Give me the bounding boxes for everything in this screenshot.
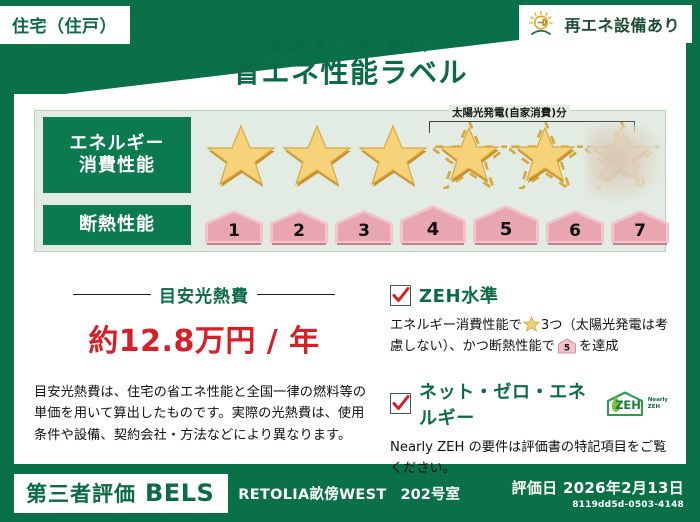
- evaluation-id: 8119dd5d-0503-4148: [512, 500, 684, 510]
- svg-text:7: 7: [634, 221, 646, 241]
- insulation-grade-2: 2: [268, 207, 330, 247]
- insulation-grade-3: 3: [333, 207, 395, 247]
- insulation-grade-6: 6: [544, 207, 606, 247]
- zeh-section: ZEH水準 エネルギー消費性能で3つ（太陽光発電は考慮しない）、かつ断熱性能で5…: [382, 280, 668, 456]
- renewable-equipment-label: 再エネ設備あり: [564, 12, 680, 36]
- zeh-netzero-title: ネット・ゼロ・エネルギー: [419, 378, 596, 430]
- insulation-grades-area: 1 2 3: [191, 199, 671, 251]
- inline-star-icon: [523, 316, 540, 332]
- utility-cost-heading: 目安光熱費: [34, 282, 374, 307]
- room-number: 202号室: [401, 483, 460, 504]
- insulation-performance-label: 断熱性能: [43, 205, 191, 245]
- insulation-grade-5: 5: [471, 203, 541, 247]
- energy-performance-label: エネルギー 消費性能: [43, 117, 191, 193]
- zeh-logo-sub-line1: Nearly: [648, 397, 668, 403]
- svg-text:3: 3: [358, 221, 370, 241]
- energy-stars-area: 太陽光発電(自家消費)分: [191, 111, 665, 199]
- svg-text:4: 4: [427, 219, 440, 240]
- building-name: RETOLIA畝傍WEST: [238, 483, 386, 504]
- zeh-netzero-title-row: ネット・ゼロ・エネルギー ZEH Nearly ZEH: [390, 378, 668, 430]
- bels-en-label: BELS: [145, 479, 214, 507]
- zeh-logo-sub-line2: ZEH: [648, 404, 660, 410]
- insulation-grade-scale: 1 2 3: [203, 200, 671, 250]
- lower-content: 目安光熱費 約12.8万円 / 年 目安光熱費は、住宅の省エネ性能と全国一律の燃…: [34, 280, 668, 456]
- solar-portion-label: 太陽光発電(自家消費)分: [449, 105, 570, 120]
- energy-label-line1: エネルギー: [70, 133, 165, 156]
- utility-cost-section: 目安光熱費 約12.8万円 / 年 目安光熱費は、住宅の省エネ性能と全国一律の燃…: [34, 280, 382, 456]
- performance-panel: エネルギー 消費性能 太陽光発電(自家消費)分: [34, 110, 666, 252]
- svg-text:2: 2: [293, 221, 305, 241]
- star-filled: [357, 121, 431, 189]
- renewable-equipment-badge: 再エネ設備あり: [519, 5, 692, 43]
- star-filled: [205, 121, 279, 189]
- energy-label-line2: 消費性能: [79, 155, 155, 178]
- label-body: エネルギー 消費性能 太陽光発電(自家消費)分: [14, 94, 686, 464]
- svg-text:5: 5: [500, 219, 513, 240]
- inline-insulation-badge-icon: 5: [557, 338, 577, 354]
- heading-rule-right: [257, 294, 335, 296]
- insulation-performance-row: 断熱性能 1 2: [35, 199, 665, 251]
- utility-cost-note: 目安光熱費は、住宅の省エネ性能と全国一律の燃料等の単価を用いて算出したものです。…: [34, 382, 374, 446]
- label-title: 建築物省エネ法に基づく 省エネ性能ラベル: [0, 40, 700, 87]
- zeh-standard-checkbox[interactable]: [390, 285, 411, 306]
- title-main: 省エネ性能ラベル: [0, 58, 700, 87]
- bels-jp-label: 第三者評価: [26, 478, 136, 508]
- evaluation-info: 評価日 2026年2月13日 8119dd5d-0503-4148: [512, 477, 684, 510]
- check-icon: [392, 286, 410, 305]
- energy-label-root: 住宅（住戸） 再エネ設備あり 建築物省エネ法に基づく 省エネ性能ラベル: [0, 0, 700, 522]
- svg-text:1: 1: [228, 221, 240, 241]
- zeh-standard-title-row: ZEH水準: [390, 282, 668, 308]
- zeh-standard-body-part3: を達成: [579, 339, 619, 354]
- zeh-logo: ZEH Nearly ZEH: [604, 390, 668, 418]
- check-icon: [392, 394, 410, 413]
- svg-text:6: 6: [569, 221, 581, 241]
- redacted-region: [587, 125, 661, 201]
- zeh-standard-body-part1: エネルギー消費性能で: [390, 318, 522, 333]
- svg-text:5: 5: [564, 344, 570, 354]
- zeh-netzero-checkbox[interactable]: [390, 393, 411, 414]
- zeh-standard-body: エネルギー消費性能で3つ（太陽光発電は考慮しない）、かつ断熱性能で5を達成: [390, 315, 668, 358]
- solar-sun-icon: [527, 10, 557, 38]
- insulation-grade-7: 7: [609, 207, 671, 247]
- zeh-standard-body-star: 3つ: [541, 318, 563, 333]
- zeh-standard-title: ZEH水準: [419, 282, 498, 308]
- zeh-standard-block: ZEH水準 エネルギー消費性能で3つ（太陽光発電は考慮しない）、かつ断熱性能で5…: [390, 282, 668, 358]
- footer-bar: 第三者評価 BELS RETOLIA畝傍WEST 202号室 評価日 2026年…: [0, 464, 700, 522]
- heading-rule-left: [73, 294, 151, 296]
- insulation-grade-4: 4: [398, 203, 468, 247]
- insulation-grade-1: 1: [203, 207, 265, 247]
- svg-text:ZEH: ZEH: [615, 398, 641, 412]
- category-tag: 住宅（住戸）: [0, 6, 130, 44]
- energy-performance-row: エネルギー 消費性能 太陽光発電(自家消費)分: [35, 111, 665, 199]
- utility-cost-amount: 約12.8万円 / 年: [34, 316, 374, 360]
- star-filled: [281, 121, 355, 189]
- evaluation-date: 評価日 2026年2月13日: [512, 477, 684, 498]
- bels-badge: 第三者評価 BELS: [14, 474, 228, 513]
- zeh-house-logo-icon: ZEH: [604, 390, 646, 418]
- zeh-logo-sublabel: Nearly ZEH: [648, 397, 668, 410]
- utility-cost-heading-text: 目安光熱費: [159, 282, 249, 307]
